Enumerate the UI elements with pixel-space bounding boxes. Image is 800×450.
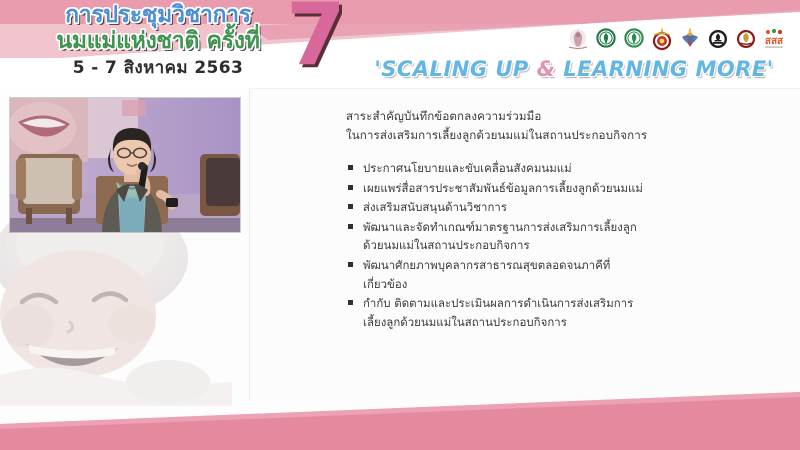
- list-item: ประกาศนโยบายและขับเคลื่อนสังคมนมแม่: [346, 159, 786, 178]
- slide-content-panel: สาระสำคัญบันทึกข้อตกลงความร่วมมือ ในการส…: [249, 88, 800, 400]
- conference-title-line1: การประชุมวิชาการ: [18, 2, 298, 28]
- list-item: พัฒนาศักยภาพบุคลากรสาธารณสุขตลอดจนภาคีที…: [346, 256, 786, 293]
- square-bullet-icon: [348, 300, 353, 305]
- royal-thai-government-logo: [734, 27, 758, 55]
- conference-date: 5 - 7 สิงหาคม 2563: [18, 57, 298, 79]
- bullet-text-line1: ส่งเสริมสนับสนุนด้านวิชาการ: [363, 200, 507, 214]
- list-item: ส่งเสริมสนับสนุนด้านวิชาการ: [346, 198, 786, 217]
- bullet-text-line1: พัฒนาและจัดทำเกณฑ์มาตรฐานการส่งเสริมการเ…: [363, 220, 637, 234]
- thaihealth-sss-logo: สสส: [762, 27, 786, 55]
- edition-number: 7: [286, 0, 346, 78]
- list-item: กำกับ ติดตามและประเมินผลการดำเนินการส่งเ…: [346, 294, 786, 331]
- square-bullet-icon: [348, 204, 353, 209]
- conference-title-line2: นมแม่แห่งชาติ ครั้งที่: [18, 28, 298, 55]
- tagline-part1: 'SCALING UP: [374, 57, 536, 81]
- conference-title-block: การประชุมวิชาการ นมแม่แห่งชาติ ครั้งที่ …: [18, 2, 298, 92]
- bullet-text-line1: พัฒนาศักยภาพบุคลากรสาธารณสุขตลอดจนภาคีที…: [363, 258, 610, 272]
- tagline-ampersand: &: [537, 57, 556, 81]
- presentation-slide: การประชุมวิชาการ นมแม่แห่งชาติ ครั้งที่ …: [0, 0, 800, 450]
- conference-tagline: 'SCALING UP & LEARNING MORE': [358, 57, 790, 81]
- bullet-text-line1: เผยแพร่สื่อสารประชาสัมพันธ์ข้อมูลการเลี้…: [363, 181, 643, 195]
- list-item: พัฒนาและจัดทำเกณฑ์มาตรฐานการส่งเสริมการเ…: [346, 218, 786, 255]
- ministry-public-health-logo-2: [622, 27, 646, 55]
- square-bullet-icon: [348, 185, 353, 190]
- garuda-emblem-logo: [678, 27, 702, 55]
- list-item: เผยแพร่สื่อสารประชาสัมพันธ์ข้อมูลการเลี้…: [346, 179, 786, 198]
- svg-text:สสส: สสส: [765, 36, 784, 47]
- partner-logo-row: สสส: [566, 27, 786, 55]
- bullet-text-line2: เกี่ยวข้อง: [363, 275, 786, 294]
- slide-header-banner: การประชุมวิชาการ นมแม่แห่งชาติ ครั้งที่ …: [0, 0, 800, 95]
- square-bullet-icon: [348, 224, 353, 229]
- square-bullet-icon: [348, 262, 353, 267]
- tagline-part2: LEARNING MORE': [555, 57, 773, 81]
- royal-college-logo: [650, 27, 674, 55]
- bullet-text-line2: เลี้ยงลูกด้วยนมแม่ในสถานประกอบกิจการ: [363, 313, 786, 332]
- content-heading-line2: ในการส่งเสริมการเลี้ยงลูกด้วยนมแม่ในสถาน…: [346, 126, 786, 145]
- content-bullet-list: ประกาศนโยบายและขับเคลื่อนสังคมนมแม่ เผยแ…: [346, 159, 786, 331]
- bullet-text-line2: ด้วยนมแม่ในสถานประกอบกิจการ: [363, 236, 786, 255]
- bullet-text-line1: กำกับ ติดตามและประเมินผลการดำเนินการส่งเ…: [363, 296, 633, 310]
- ministry-public-health-logo-1: [594, 27, 618, 55]
- mother-baby-foundation-logo: [566, 27, 590, 55]
- content-heading-line1: สาระสำคัญบันทึกข้อตกลงความร่วมมือ: [346, 107, 786, 126]
- bullet-text-line1: ประกาศนโยบายและขับเคลื่อนสังคมนมแม่: [363, 161, 572, 175]
- mahidol-university-logo: [706, 27, 730, 55]
- speaker-video-thumbnail[interactable]: [10, 98, 240, 232]
- square-bullet-icon: [348, 165, 353, 170]
